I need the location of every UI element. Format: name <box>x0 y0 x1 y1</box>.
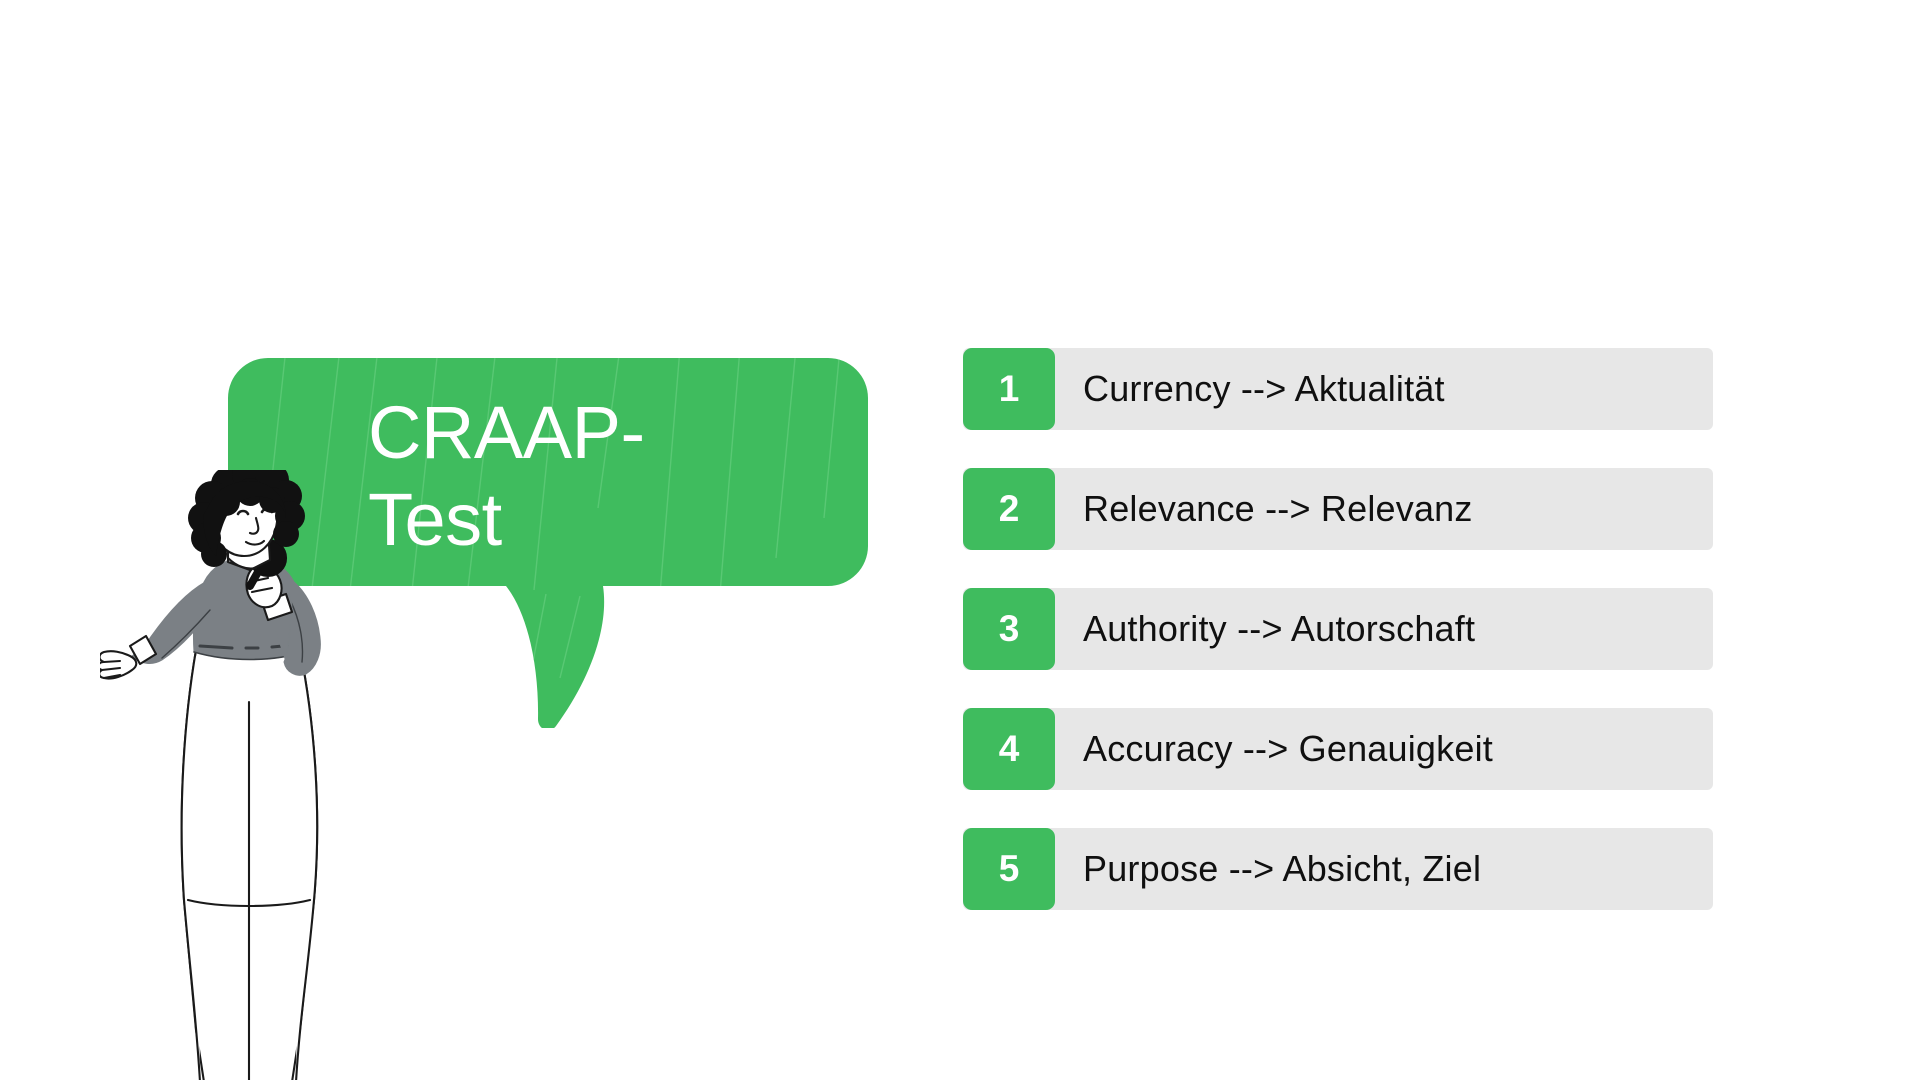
list-item-number: 5 <box>963 828 1055 910</box>
list-item-number: 2 <box>963 468 1055 550</box>
list-item[interactable]: 3 Authority --> Autorschaft <box>963 588 1713 670</box>
list-item-label: Relevance --> Relevanz <box>1055 468 1473 550</box>
list-item[interactable]: 2 Relevance --> Relevanz <box>963 468 1713 550</box>
list-item-number: 3 <box>963 588 1055 670</box>
list-item-label: Purpose --> Absicht, Ziel <box>1055 828 1481 910</box>
list-item-number: 4 <box>963 708 1055 790</box>
list-item[interactable]: 4 Accuracy --> Genauigkeit <box>963 708 1713 790</box>
list-item-label: Authority --> Autorschaft <box>1055 588 1475 670</box>
illustration-panel: CRAAP- Test <box>0 0 900 1080</box>
list-item-label: Accuracy --> Genauigkeit <box>1055 708 1493 790</box>
list-item[interactable]: 1 Currency --> Aktualität <box>963 348 1713 430</box>
person-with-microphone-illustration <box>100 470 400 1080</box>
slide-canvas: CRAAP- Test <box>0 0 1920 1080</box>
list-item-label: Currency --> Aktualität <box>1055 348 1445 430</box>
craap-criteria-list: 1 Currency --> Aktualität 2 Relevance --… <box>963 348 1713 910</box>
page-title: CRAAP- Test <box>368 390 768 563</box>
list-item[interactable]: 5 Purpose --> Absicht, Ziel <box>963 828 1713 910</box>
list-item-number: 1 <box>963 348 1055 430</box>
